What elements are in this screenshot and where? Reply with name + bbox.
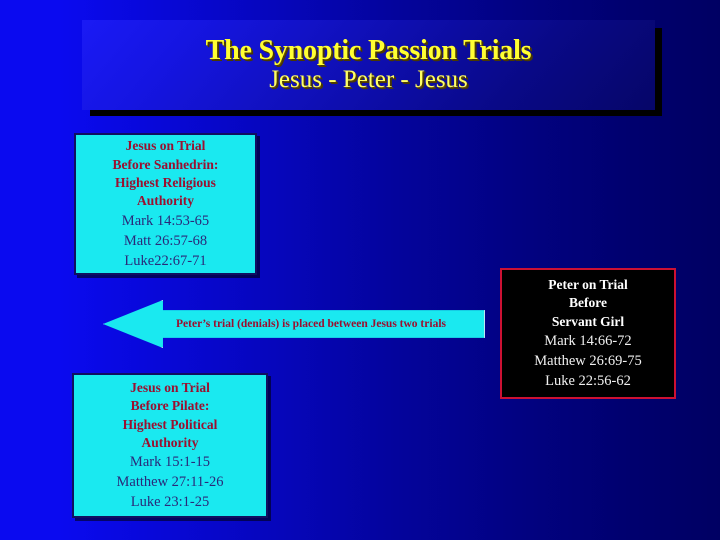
- sanhedrin-reference-luke: Luke22:67-71: [124, 251, 206, 271]
- arrow-peter-between-trials[interactable]: Peter’s trial (denials) is placed betwee…: [103, 300, 485, 348]
- pilate-reference-mark: Mark 15:1-15: [130, 452, 210, 472]
- pilate-heading-line-2: Before Pilate:: [131, 397, 210, 415]
- peter-reference-matthew: Matthew 26:69-75: [534, 351, 642, 371]
- box-jesus-before-sanhedrin[interactable]: Jesus on Trial Before Sanhedrin: Highest…: [74, 133, 257, 275]
- slide-title-line-2: Jesus - Peter - Jesus: [269, 65, 468, 95]
- sanhedrin-heading-line-1: Jesus on Trial: [126, 137, 206, 155]
- sanhedrin-heading-line-2: Before Sanhedrin:: [113, 156, 219, 174]
- peter-heading-line-2: Before: [569, 294, 607, 313]
- arrow-label: Peter’s trial (denials) is placed betwee…: [103, 300, 485, 348]
- peter-heading-line-3: Servant Girl: [552, 313, 624, 332]
- pilate-reference-luke: Luke 23:1-25: [131, 492, 210, 512]
- sanhedrin-heading-line-3: Highest Religious: [115, 174, 216, 192]
- sanhedrin-reference-matthew: Matt 26:57-68: [124, 231, 207, 251]
- sanhedrin-heading-line-4: Authority: [137, 192, 194, 210]
- pilate-heading-line-4: Authority: [142, 434, 199, 452]
- slide-title-line-1: The Synoptic Passion Trials: [206, 36, 532, 65]
- pilate-reference-matthew: Matthew 27:11-26: [117, 472, 224, 492]
- pilate-heading-line-3: Highest Political: [123, 416, 218, 434]
- box-jesus-before-pilate[interactable]: Jesus on Trial Before Pilate: Highest Po…: [72, 373, 268, 518]
- slide-canvas: The Synoptic Passion Trials Jesus - Pete…: [0, 0, 720, 540]
- box-peter-on-trial[interactable]: Peter on Trial Before Servant Girl Mark …: [500, 268, 676, 399]
- pilate-heading-line-1: Jesus on Trial: [130, 379, 210, 397]
- sanhedrin-reference-mark: Mark 14:53-65: [122, 211, 209, 231]
- title-box: The Synoptic Passion Trials Jesus - Pete…: [82, 20, 655, 110]
- peter-reference-luke: Luke 22:56-62: [545, 371, 631, 391]
- peter-reference-mark: Mark 14:66-72: [544, 331, 631, 351]
- peter-heading-line-1: Peter on Trial: [548, 276, 627, 295]
